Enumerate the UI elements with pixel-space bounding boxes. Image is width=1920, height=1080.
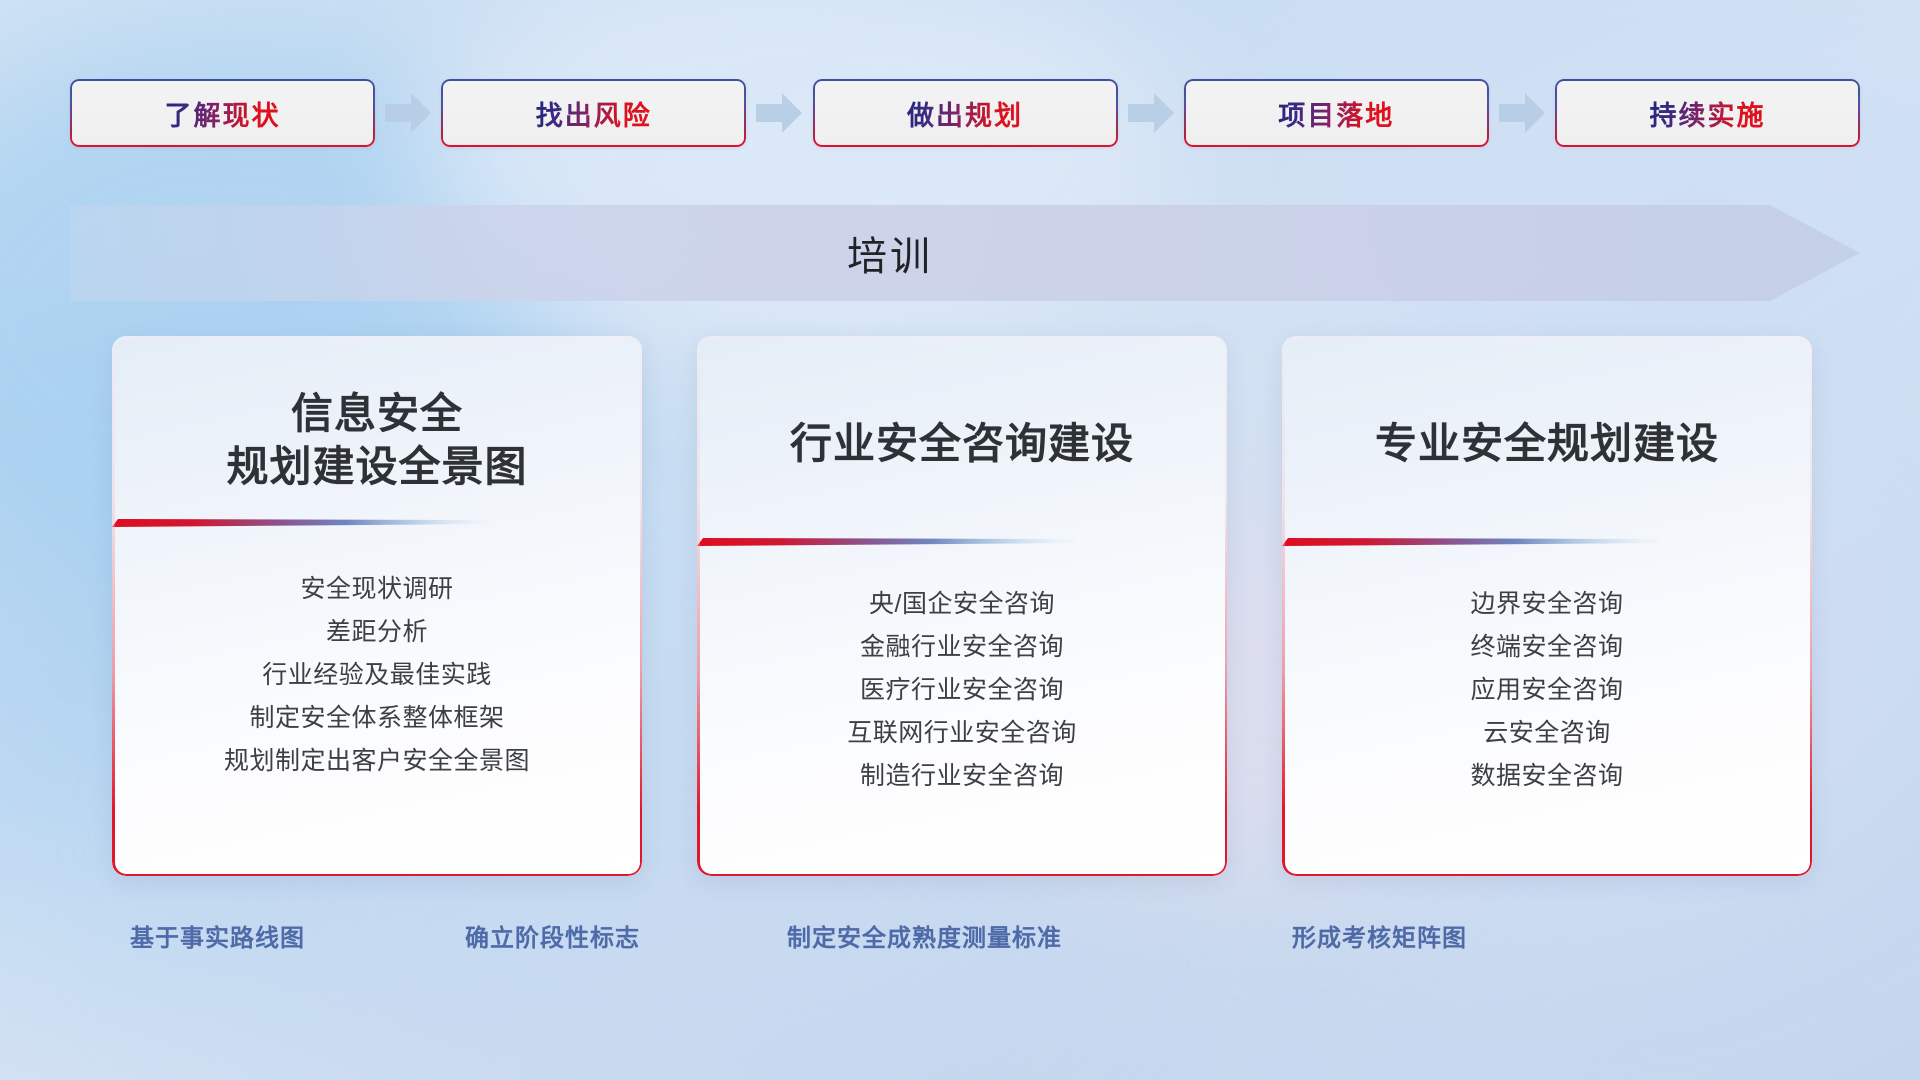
list-item[interactable]: 差距分析 [112,611,642,654]
arrow-right-icon [385,92,431,134]
step-label-2: 找出风险 [536,94,652,133]
list-item[interactable]: 金融行业安全咨询 [697,626,1227,669]
list-item[interactable]: 边界安全咨询 [1282,583,1812,626]
footnote-label: 形成考核矩阵图 [1292,918,1467,953]
step-label-4: 项目落地 [1278,94,1394,133]
list-item[interactable]: 互联网行业安全咨询 [697,712,1227,755]
card-item-list: 央/国企安全咨询 金融行业安全咨询 医疗行业安全咨询 互联网行业安全咨询 制造行… [697,583,1227,798]
step-box-2[interactable]: 找出风险 [441,79,746,147]
step-box-5[interactable]: 持续实施 [1555,79,1860,147]
list-item[interactable]: 数据安全咨询 [1282,755,1812,798]
card-item-list: 安全现状调研 差距分析 行业经验及最佳实践 制定安全体系整体框架 规划制定出客户… [112,568,642,783]
footnote-label: 基于事实路线图 [130,918,305,953]
process-step-flow: 了解现状 找出风险 做出规划 项目落地 持续实施 [70,78,1860,148]
card-professional-security-planning[interactable]: 专业安全规划建设 边界安全咨询 终端安全咨询 应用安全咨 [1282,336,1812,876]
list-item[interactable]: 规划制定出客户安全全景图 [112,740,642,783]
gradient-divider [1282,537,1660,546]
list-item[interactable]: 医疗行业安全咨询 [697,669,1227,712]
card-item-list: 边界安全咨询 终端安全咨询 应用安全咨询 云安全咨询 数据安全咨询 [1282,583,1812,798]
list-item[interactable]: 终端安全咨询 [1282,626,1812,669]
card-row: 信息安全 规划建设全景图 安全现状调研 差距分析 行业经 [112,336,1812,876]
list-item[interactable]: 安全现状调研 [112,568,642,611]
card-title: 行业安全咨询建设 [697,418,1227,471]
arrow-right-icon [1128,92,1174,134]
footnote-label: 确立阶段性标志 [465,918,640,953]
infographic-canvas: 了解现状 找出风险 做出规划 项目落地 持续实施 [0,0,1920,1080]
list-item[interactable]: 应用安全咨询 [1282,669,1812,712]
step-box-4[interactable]: 项目落地 [1184,79,1489,147]
list-item[interactable]: 云安全咨询 [1282,712,1812,755]
step-label-1: 了解现状 [165,94,281,133]
card-industry-security-consulting[interactable]: 行业安全咨询建设 央/国企安全咨询 金融行业安全咨询 医 [697,336,1227,876]
list-item[interactable]: 央/国企安全咨询 [697,583,1227,626]
step-box-3[interactable]: 做出规划 [813,79,1118,147]
training-banner: 培训 [70,205,1860,301]
list-item[interactable]: 制定安全体系整体框架 [112,697,642,740]
step-label-5: 持续实施 [1650,94,1766,133]
list-item[interactable]: 制造行业安全咨询 [697,755,1227,798]
footnote-label: 制定安全成熟度测量标准 [787,918,1062,953]
background-glow-top [420,0,1180,360]
step-box-1[interactable]: 了解现状 [70,79,375,147]
arrow-right-icon [756,92,802,134]
arrow-right-icon [1499,92,1545,134]
list-item[interactable]: 行业经验及最佳实践 [112,654,642,697]
step-label-3: 做出规划 [907,94,1023,133]
gradient-divider [112,518,490,527]
card-information-security[interactable]: 信息安全 规划建设全景图 安全现状调研 差距分析 行业经 [112,336,642,876]
card-title: 信息安全 规划建设全景图 [112,388,642,494]
gradient-divider [697,537,1075,546]
banner-title: 培训 [70,205,1710,301]
card-title: 专业安全规划建设 [1282,418,1812,471]
